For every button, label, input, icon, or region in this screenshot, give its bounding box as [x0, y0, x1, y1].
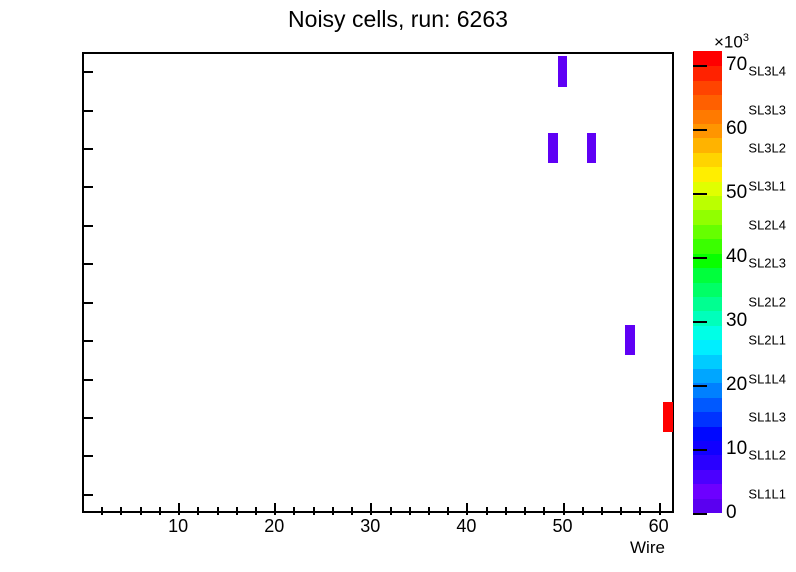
- heatmap-cell: [587, 133, 597, 164]
- z-axis-tick-label: 30: [726, 310, 747, 332]
- y-axis-tick-mark: [82, 71, 93, 73]
- y-axis-tick-mark: [82, 494, 93, 496]
- x-axis-minor-tick: [505, 507, 507, 515]
- x-axis-tick-label: 10: [168, 516, 188, 537]
- x-axis-tick-label: 60: [649, 516, 669, 537]
- x-axis-minor-tick: [601, 507, 603, 515]
- palette-band: [693, 484, 722, 499]
- plot-area: [82, 52, 674, 513]
- z-axis-tick-mark: [693, 257, 707, 259]
- x-axis-tick-mark: [274, 503, 276, 515]
- y-axis-tick-label: SL1L4: [748, 371, 786, 386]
- palette-band: [693, 426, 722, 441]
- z-axis-tick-label: 40: [726, 246, 747, 268]
- palette-band: [693, 340, 722, 355]
- z-axis-tick-mark: [693, 513, 707, 515]
- y-axis-tick-mark: [82, 417, 93, 419]
- y-axis-tick-mark: [82, 110, 93, 112]
- z-axis-tick-label: 10: [726, 438, 747, 460]
- y-axis-tick-mark: [82, 340, 93, 342]
- x-axis-minor-tick: [639, 507, 641, 515]
- palette-band: [693, 397, 722, 412]
- x-axis-tick-label: 20: [264, 516, 284, 537]
- x-axis-tick-mark: [370, 503, 372, 515]
- heatmap-cell: [548, 133, 558, 164]
- palette-band: [693, 368, 722, 383]
- palette-band: [693, 325, 722, 340]
- x-axis-minor-tick: [524, 507, 526, 515]
- y-axis-tick-label: SL3L1: [748, 179, 786, 194]
- y-axis-tick-mark: [82, 186, 93, 188]
- x-axis-minor-tick: [120, 507, 122, 515]
- x-axis-tick-mark: [466, 503, 468, 515]
- x-axis-minor-tick: [159, 507, 161, 515]
- palette-band: [693, 95, 722, 110]
- x-axis-minor-tick: [236, 507, 238, 515]
- z-axis-tick-label: 50: [726, 182, 747, 204]
- palette-band: [693, 455, 722, 470]
- x-axis-minor-tick: [543, 507, 545, 515]
- x-axis-minor-tick: [255, 507, 257, 515]
- z-axis-tick-label: 20: [726, 374, 747, 396]
- y-axis-tick-label: SL3L3: [748, 102, 786, 117]
- z-axis-tick-label: 0: [726, 502, 737, 524]
- page-title: Noisy cells, run: 6263: [0, 6, 796, 33]
- y-axis-tick-label: SL2L2: [748, 294, 786, 309]
- heatmap-cell: [625, 325, 635, 356]
- palette-band: [693, 210, 722, 225]
- x-axis-minor-tick: [217, 507, 219, 515]
- y-axis-tick-label: SL1L2: [748, 448, 786, 463]
- palette-band: [693, 152, 722, 167]
- z-axis-tick-mark: [693, 65, 707, 67]
- palette-band: [693, 440, 722, 455]
- y-axis-tick-label: SL1L3: [748, 409, 786, 424]
- palette-band: [693, 469, 722, 484]
- x-axis-tick-label: 40: [456, 516, 476, 537]
- z-axis-exponent: ×103: [714, 32, 749, 53]
- palette-band: [693, 253, 722, 268]
- x-axis-minor-tick: [582, 507, 584, 515]
- palette-band: [693, 138, 722, 153]
- heatmap-cell: [558, 56, 568, 87]
- y-axis-tick-label: SL2L3: [748, 256, 786, 271]
- color-scale-bar: [693, 52, 722, 513]
- palette-band: [693, 167, 722, 182]
- palette-band: [693, 109, 722, 124]
- x-axis-minor-tick: [332, 507, 334, 515]
- z-axis-tick-mark: [693, 321, 707, 323]
- y-axis-tick-mark: [82, 379, 93, 381]
- x-axis-minor-tick: [293, 507, 295, 515]
- x-axis-title: Wire: [630, 538, 665, 558]
- y-axis-tick-label: SL2L1: [748, 333, 786, 348]
- x-axis-minor-tick: [351, 507, 353, 515]
- z-axis-tick-mark: [693, 193, 707, 195]
- palette-band: [693, 311, 722, 326]
- x-axis-minor-tick: [140, 507, 142, 515]
- y-axis-tick-label: SL2L4: [748, 217, 786, 232]
- x-axis-minor-tick: [620, 507, 622, 515]
- palette-band: [693, 80, 722, 95]
- heatmap-cell: [663, 402, 673, 433]
- palette-band: [693, 354, 722, 369]
- x-axis-minor-tick: [197, 507, 199, 515]
- x-axis-tick-label: 50: [553, 516, 573, 537]
- x-axis-tick-label: 30: [360, 516, 380, 537]
- palette-band: [693, 268, 722, 283]
- palette-band: [693, 498, 722, 513]
- x-axis-minor-tick: [390, 507, 392, 515]
- x-axis-minor-tick: [409, 507, 411, 515]
- x-axis-minor-tick: [313, 507, 315, 515]
- y-axis-tick-mark: [82, 148, 93, 150]
- x-axis-minor-tick: [428, 507, 430, 515]
- z-axis-tick-mark: [693, 449, 707, 451]
- x-axis-minor-tick: [447, 507, 449, 515]
- palette-band: [693, 239, 722, 254]
- x-axis-minor-tick: [101, 507, 103, 515]
- y-axis-tick-label: SL3L4: [748, 64, 786, 79]
- y-axis-tick-label: SL1L1: [748, 486, 786, 501]
- z-axis-tick-mark: [693, 385, 707, 387]
- palette-band: [693, 123, 722, 138]
- x-axis-tick-mark: [563, 503, 565, 515]
- x-axis-tick-mark: [178, 503, 180, 515]
- x-axis-tick-mark: [659, 503, 661, 515]
- palette-band: [693, 282, 722, 297]
- z-axis-tick-label: 70: [726, 54, 747, 76]
- y-axis-tick-mark: [82, 225, 93, 227]
- palette-band: [693, 66, 722, 81]
- y-axis-tick-mark: [82, 263, 93, 265]
- palette-band: [693, 412, 722, 427]
- z-axis-tick-label: 60: [726, 118, 747, 140]
- x-axis-minor-tick: [486, 507, 488, 515]
- y-axis-tick-mark: [82, 455, 93, 457]
- z-axis-tick-mark: [693, 129, 707, 131]
- palette-band: [693, 296, 722, 311]
- palette-band: [693, 224, 722, 239]
- y-axis-tick-mark: [82, 302, 93, 304]
- y-axis-tick-label: SL3L2: [748, 141, 786, 156]
- palette-band: [693, 195, 722, 210]
